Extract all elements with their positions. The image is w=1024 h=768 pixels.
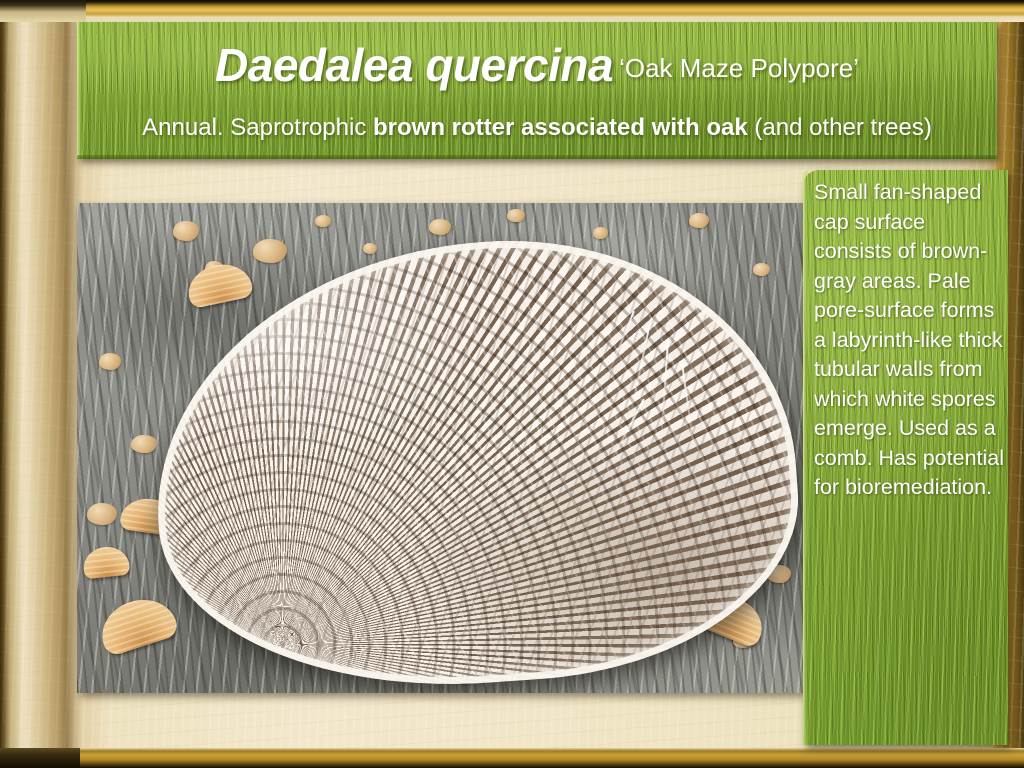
gilt-band-bottom-cap <box>0 748 80 768</box>
lichen-speck <box>99 353 121 370</box>
slide-canvas: Daedalea quercina‘Oak Maze Polypore’ Ann… <box>0 0 1024 768</box>
slide-title: Daedalea quercina‘Oak Maze Polypore’ <box>77 38 997 92</box>
panel-left-highlight <box>803 170 809 745</box>
lichen-speck <box>429 219 451 235</box>
slide-subtitle: Annual. Saprotrophic brown rotter associ… <box>77 114 997 142</box>
subtitle-suffix: (and other trees) <box>748 114 932 141</box>
gilt-band-top <box>0 0 1024 22</box>
lichen-speck <box>507 209 525 222</box>
header-banner: Daedalea quercina‘Oak Maze Polypore’ Ann… <box>77 22 997 159</box>
lichen-speck <box>87 503 117 525</box>
header-bottom-shade <box>77 155 997 159</box>
title-scientific-name: Daedalea quercina <box>215 39 613 91</box>
gilt-band-bottom <box>0 748 1024 768</box>
daedalea-quercina-fruiting-body <box>140 221 803 693</box>
description-text: Small fan-shaped cap surface consists of… <box>814 178 1004 503</box>
gilt-band-top-cap <box>0 0 86 22</box>
description-panel: Small fan-shaped cap surface consists of… <box>803 170 1008 745</box>
lichen-speck <box>315 215 331 227</box>
subtitle-prefix: Annual. Saprotrophic <box>142 114 373 141</box>
specimen-photo <box>77 203 803 693</box>
lichen-speck <box>173 221 199 241</box>
title-common-name: ‘Oak Maze Polypore’ <box>619 53 859 83</box>
subtitle-emphasis: brown rotter associated with oak <box>373 114 748 141</box>
